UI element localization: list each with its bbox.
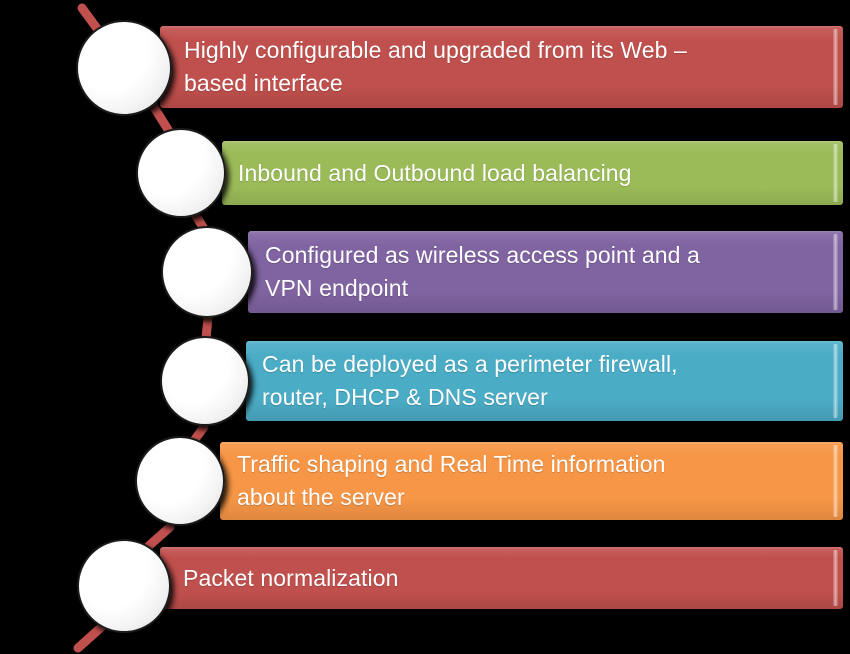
connector-dash	[206, 318, 208, 338]
bar-end-highlight	[833, 550, 838, 606]
step-bar[interactable]: Highly configurable and upgraded from it…	[160, 26, 843, 108]
step-bar[interactable]: Configured as wireless access point and …	[248, 231, 843, 313]
bar-end-highlight	[833, 445, 838, 517]
step-node-circle[interactable]	[135, 436, 225, 526]
bar-end-highlight	[833, 344, 838, 418]
staircase-diagram: Highly configurable and upgraded from it…	[0, 0, 850, 654]
step-label: Can be deployed as a perimeter firewall,…	[262, 348, 678, 414]
step-node-circle[interactable]	[161, 226, 253, 318]
bar-end-highlight	[833, 234, 838, 310]
step-node-circle[interactable]	[160, 336, 250, 426]
step-label: Packet normalization	[183, 562, 399, 595]
bar-end-highlight	[833, 144, 838, 202]
step-bar[interactable]: Packet normalization	[160, 547, 843, 609]
step-bar[interactable]: Can be deployed as a perimeter firewall,…	[246, 341, 843, 421]
step-label: Traffic shaping and Real Time informatio…	[237, 448, 666, 514]
step-node-circle[interactable]	[136, 128, 226, 218]
step-label: Configured as wireless access point and …	[265, 239, 700, 305]
step-node-circle[interactable]	[77, 539, 171, 633]
step-label: Inbound and Outbound load balancing	[238, 157, 632, 190]
bar-end-highlight	[833, 29, 838, 105]
step-node-circle[interactable]	[76, 20, 172, 116]
step-bar[interactable]: Traffic shaping and Real Time informatio…	[220, 442, 843, 520]
step-bar[interactable]: Inbound and Outbound load balancing	[222, 141, 843, 205]
step-label: Highly configurable and upgraded from it…	[184, 34, 687, 100]
